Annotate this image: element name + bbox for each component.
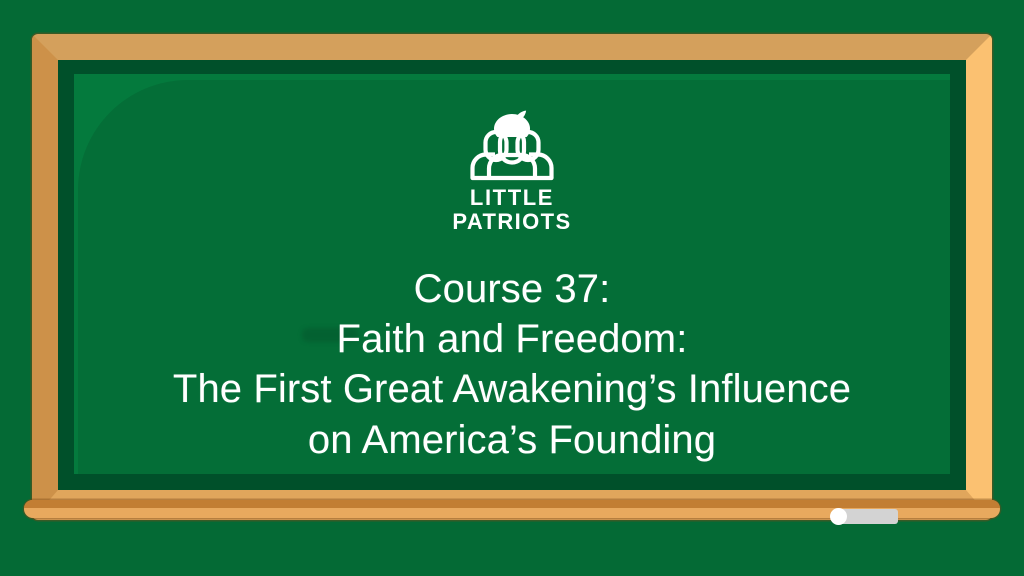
board-content: LITTLE PATRIOTS Course 37: Faith and Fre… xyxy=(74,74,950,474)
chalkboard-inner-bevel: LITTLE PATRIOTS Course 37: Faith and Fre… xyxy=(58,60,966,490)
title-line-2: Faith and Freedom: xyxy=(173,314,851,364)
logo-word-patriots: PATRIOTS xyxy=(452,210,571,234)
title-line-1: Course 37: xyxy=(173,264,851,314)
apple-over-three-people-icon xyxy=(460,108,564,184)
chalkboard-wooden-frame: LITTLE PATRIOTS Course 37: Faith and Fre… xyxy=(32,34,992,520)
apple-shape xyxy=(494,114,530,137)
chalk-stick xyxy=(836,509,898,524)
chalk-tray-lip xyxy=(24,500,1000,508)
course-title: Course 37: Faith and Freedom: The First … xyxy=(173,264,851,466)
title-slide: LITTLE PATRIOTS Course 37: Faith and Fre… xyxy=(0,0,1024,576)
little-patriots-logo: LITTLE PATRIOTS xyxy=(452,108,571,234)
chalkboard-surface: LITTLE PATRIOTS Course 37: Faith and Fre… xyxy=(74,74,950,474)
chalk-tip xyxy=(830,508,847,525)
title-line-3: The First Great Awakening’s Influence xyxy=(173,364,851,414)
logo-wordmark: LITTLE PATRIOTS xyxy=(452,186,571,234)
title-line-4: on America’s Founding xyxy=(173,415,851,465)
logo-word-little: LITTLE xyxy=(470,186,554,210)
